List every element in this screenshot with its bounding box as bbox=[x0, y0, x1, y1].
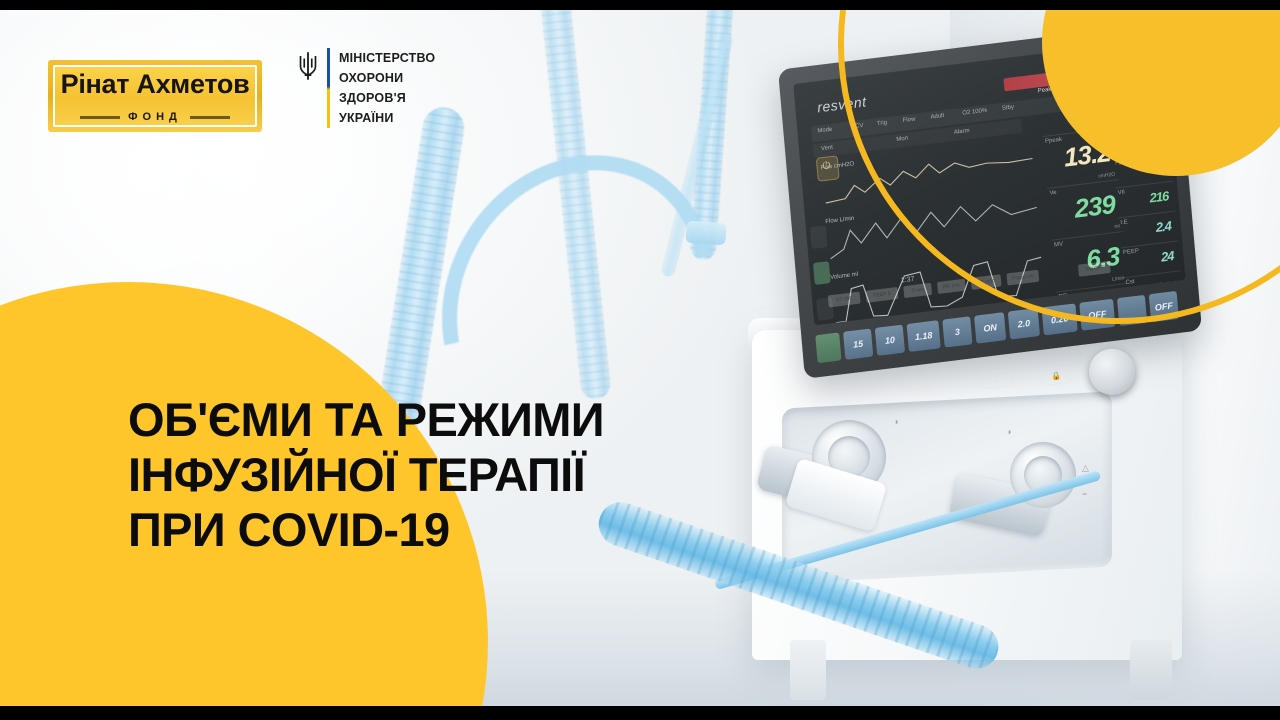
logo-dash-right bbox=[190, 116, 230, 119]
tube-connector-clip bbox=[685, 221, 726, 246]
ventilator-foot-right bbox=[1130, 640, 1172, 700]
ministry-line-1: ОХОРОНИ bbox=[339, 69, 435, 88]
ministry-divider bbox=[327, 48, 330, 128]
logo-subtitle: ФОНД bbox=[128, 111, 182, 123]
vent-button-3[interactable]: 3 bbox=[942, 316, 972, 347]
vent-button-0[interactable]: 15 bbox=[843, 328, 873, 359]
title-line-2: ІНФУЗІЙНОЇ ТЕРАПІЇ bbox=[128, 447, 768, 502]
lock-icon[interactable]: 🔒 bbox=[1038, 366, 1074, 387]
panel-icon-inspiratory: ◗ bbox=[894, 416, 899, 426]
ministry-line-0: МІНІСТЕРСТВО bbox=[339, 49, 435, 68]
letterbox-bar-bottom bbox=[0, 706, 1280, 720]
panel-icon-nebulizer: ⌁ bbox=[1082, 489, 1087, 500]
ministry-text-block: МІНІСТЕРСТВО ОХОРОНИ ЗДОРОВ'Я УКРАЇНИ bbox=[339, 48, 435, 128]
vent-button-5[interactable]: 2.0 bbox=[1008, 308, 1040, 340]
control-knob[interactable] bbox=[1086, 346, 1137, 397]
ukraine-trident-icon bbox=[298, 51, 318, 81]
ministry-line-2: ЗДОРОВ'Я bbox=[339, 89, 435, 108]
vent-button-4[interactable]: ON bbox=[974, 312, 1006, 344]
logo-subtitle-row: ФОНД bbox=[48, 107, 262, 127]
logo-name: Рінат Ахметов bbox=[48, 69, 262, 100]
logo-dash-left bbox=[80, 116, 120, 119]
topbar-item-0[interactable]: Mode bbox=[817, 127, 832, 135]
ministry-of-health-logo[interactable]: МІНІСТЕРСТВО ОХОРОНИ ЗДОРОВ'Я УКРАЇНИ bbox=[298, 48, 438, 138]
vent-button-1[interactable]: 10 bbox=[875, 325, 905, 356]
vent-button-o2[interactable] bbox=[815, 332, 841, 363]
rinat-akhmetov-foundation-logo[interactable]: Рінат Ахметов ФОНД bbox=[48, 60, 262, 132]
letterbox-bar-top bbox=[0, 0, 1280, 10]
ventilator-foot-left bbox=[790, 640, 826, 700]
ministry-line-3: УКРАЇНИ bbox=[339, 109, 435, 128]
page-title: ОБ'ЄМИ ТА РЕЖИМИ ІНФУЗІЙНОЇ ТЕРАПІЇ ПРИ … bbox=[128, 392, 768, 557]
unlock-icon[interactable]: ⌂ bbox=[978, 369, 1014, 390]
vent-button-2[interactable]: 1.18 bbox=[907, 320, 941, 352]
title-line-3: ПРИ COVID-19 bbox=[128, 502, 768, 557]
title-line-1: ОБ'ЄМИ ТА РЕЖИМИ bbox=[128, 392, 768, 447]
slide-canvas: ◗ ◑ △ ⌁ resvent Peak Pressure Limit Mode… bbox=[0, 0, 1280, 720]
panel-icon-expiratory: ◑ bbox=[1006, 427, 1011, 437]
modebar-item-0[interactable]: Vent bbox=[821, 145, 833, 152]
